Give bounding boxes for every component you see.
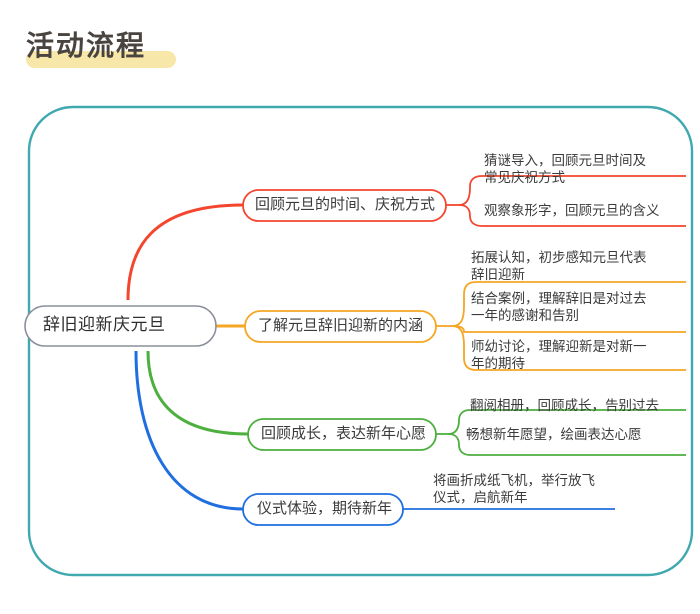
connector-root-to-branch-4 <box>136 351 243 509</box>
branch-node-label-1: 回顾元旦的时间、庆祝方式 <box>255 197 435 212</box>
leaf-label-2-3: 师幼讨论，理解迎新是对新一 年的期待 <box>471 338 647 372</box>
leaf-label-2-2: 结合案例，理解辞旧是对过去 一年的感谢和告别 <box>471 290 647 324</box>
branch-node-label-4: 仪式体验，期待新年 <box>257 501 392 516</box>
connector-root-to-branch-1 <box>128 205 243 300</box>
branch-node-label-3: 回顾成长，表达新年心愿 <box>261 426 426 441</box>
leaf-label-3-2: 畅想新年愿望，绘画表达心愿 <box>466 426 642 443</box>
branch-node-label-2: 了解元旦辞旧迎新的内涵 <box>258 318 423 333</box>
connector-root-to-branch-3 <box>148 351 248 434</box>
leaf-label-3-1: 翻阅相册，回顾成长，告别过去 <box>470 397 659 414</box>
root-node-label: 辞旧迎新庆元旦 <box>43 317 166 332</box>
leaf-label-4-1: 将画折成纸飞机，举行放飞 仪式，启航新年 <box>433 472 595 506</box>
connector-branch-2-to-leaf-2 <box>452 326 686 332</box>
leaf-label-1-2: 观察象形字，回顾元旦的含义 <box>484 202 660 219</box>
leaf-label-2-1: 拓展认知，初步感知元旦代表 辞旧迎新 <box>471 249 647 283</box>
leaf-label-1-1: 猜谜导入，回顾元旦时间及 常见庆祝方式 <box>484 152 646 186</box>
page-title: 活动流程 <box>26 24 146 68</box>
page-title-group: 活动流程 <box>26 24 146 70</box>
